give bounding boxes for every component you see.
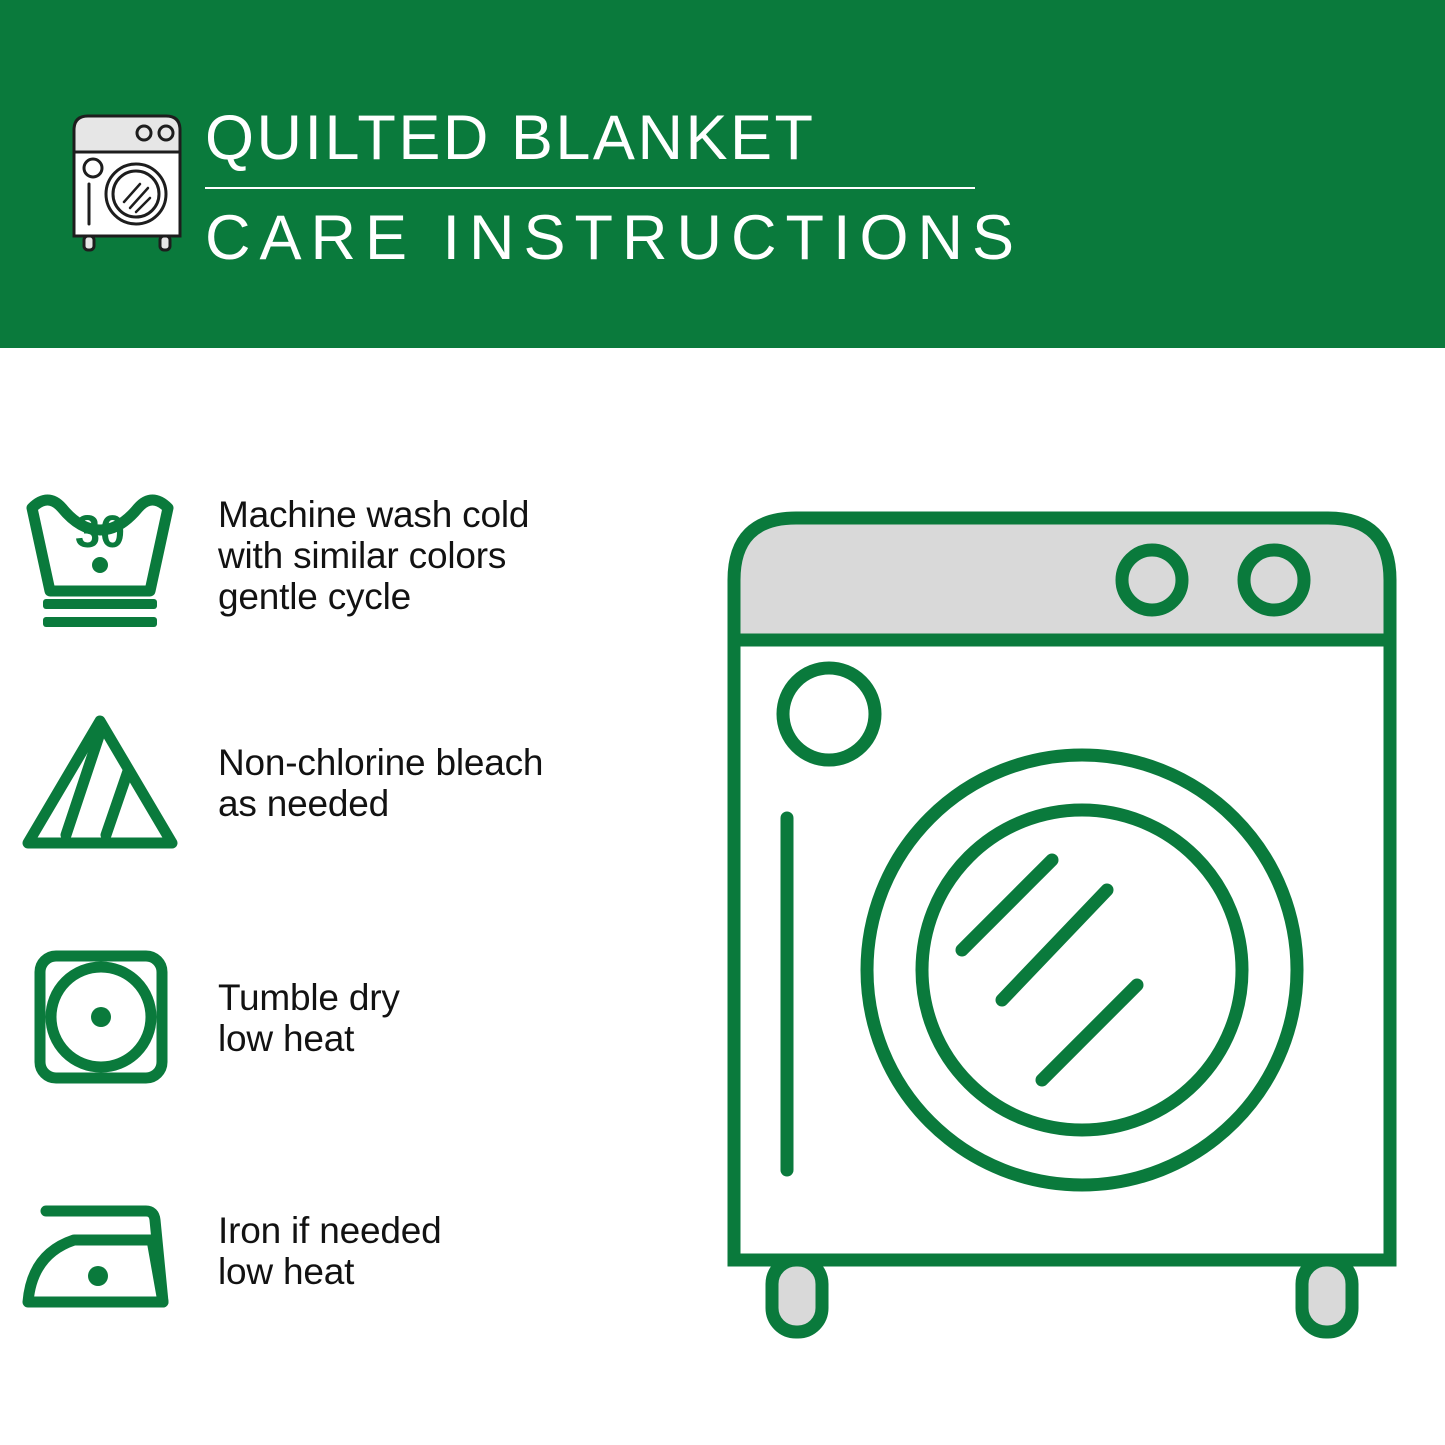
non-chlorine-bleach-triangle-icon (0, 696, 200, 871)
header-banner: QUILTED BLANKET CARE INSTRUCTIONS (0, 0, 1445, 348)
page-title-line2: CARE INSTRUCTIONS (205, 200, 995, 276)
care-row-machine-wash: 30 Machine wash cold with similar colors… (0, 460, 700, 650)
care-row-label: Non-chlorine bleach as needed (200, 742, 543, 824)
care-instructions-page: QUILTED BLANKET CARE INSTRUCTIONS 30 (0, 0, 1445, 1445)
page-title-line1: QUILTED BLANKET (205, 100, 995, 176)
care-row-bleach: Non-chlorine bleach as needed (0, 688, 700, 878)
title-divider (205, 187, 975, 189)
machine-wash-30-gentle-icon: 30 (0, 468, 200, 643)
care-row-iron: Iron if needed low heat (0, 1156, 700, 1346)
iron-low-heat-icon (0, 1164, 200, 1339)
header-title-group: QUILTED BLANKET CARE INSTRUCTIONS (205, 100, 995, 276)
tumble-dry-low-heat-icon (0, 931, 200, 1106)
care-instruction-list: 30 Machine wash cold with similar colors… (0, 348, 700, 1445)
washing-machine-icon (64, 104, 190, 254)
wash-temperature-label: 30 (75, 506, 125, 557)
care-row-tumble-dry: Tumble dry low heat (0, 923, 700, 1113)
care-row-label: Iron if needed low heat (200, 1210, 441, 1292)
care-row-label: Machine wash cold with similar colors ge… (200, 494, 529, 617)
front-load-washing-machine-illustration (712, 470, 1412, 1370)
care-row-label: Tumble dry low heat (200, 977, 400, 1059)
